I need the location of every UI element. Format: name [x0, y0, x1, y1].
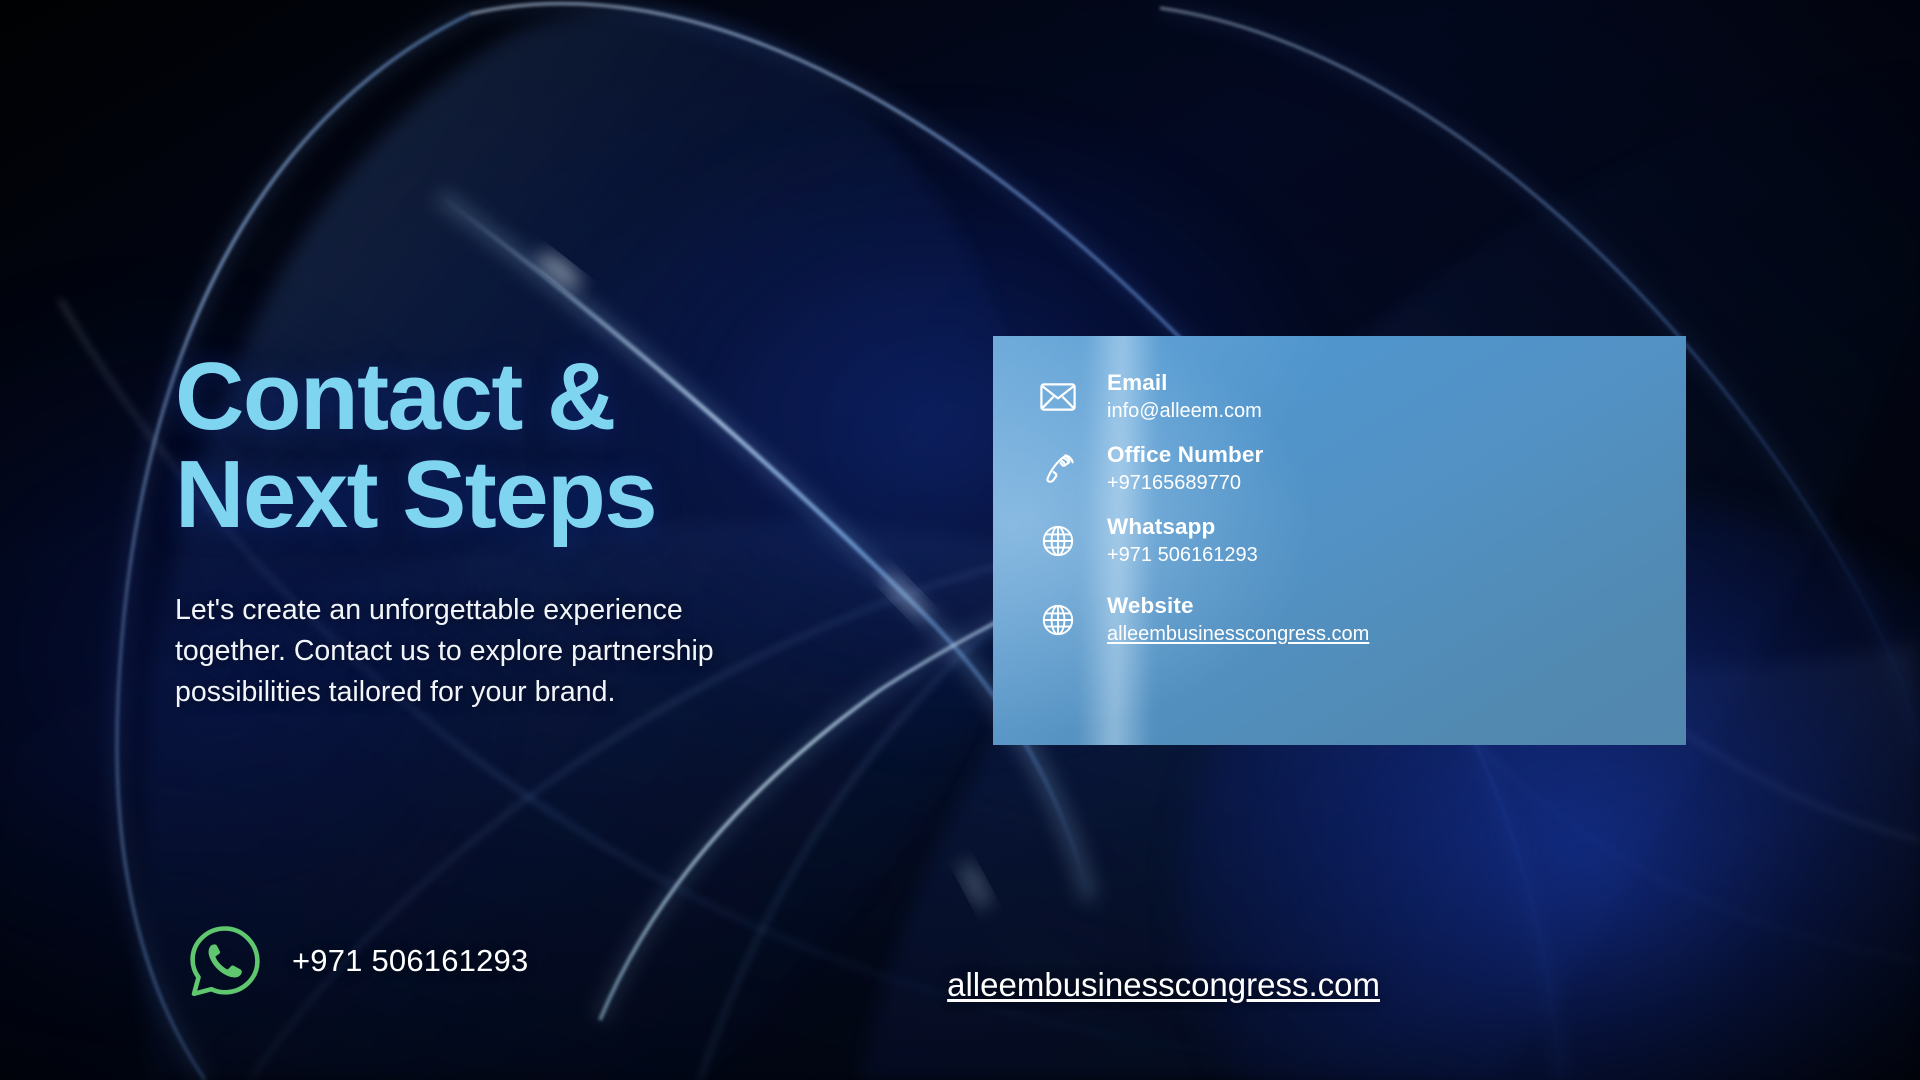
- contact-row-text: Whatsapp +971 506161293: [1107, 514, 1258, 567]
- contact-label: Office Number: [1107, 442, 1263, 467]
- contact-label: Website: [1107, 593, 1194, 618]
- contact-value[interactable]: info@alleem.com: [1107, 400, 1262, 424]
- slide-canvas: Contact & Next Steps Let's create an unf…: [0, 0, 1920, 1080]
- globe-icon: [1037, 599, 1079, 641]
- globe-icon: [1037, 520, 1079, 562]
- contact-label: Email: [1107, 370, 1168, 395]
- left-content-column: Contact & Next Steps Let's create an unf…: [175, 348, 855, 714]
- contact-value[interactable]: +971 506161293: [1107, 544, 1258, 568]
- contact-row-text: Office Number +97165689770: [1107, 442, 1263, 495]
- contact-row-whatsapp[interactable]: Whatsapp +971 506161293: [1037, 514, 1686, 567]
- page-subcopy: Let's create an unforgettable experience…: [175, 590, 800, 714]
- page-title-line-1: Contact &: [175, 348, 855, 446]
- footer-whatsapp-contact[interactable]: +971 506161293: [186, 922, 528, 1000]
- contact-row-text: Website alleembusinesscongress.com: [1107, 593, 1369, 646]
- contact-label: Whatsapp: [1107, 514, 1215, 539]
- page-title-line-2: Next Steps: [175, 446, 855, 544]
- phone-icon: [1037, 448, 1079, 490]
- contact-row-website[interactable]: Website alleembusinesscongress.com: [1037, 593, 1686, 646]
- contact-row-email[interactable]: Email info@alleem.com: [1037, 370, 1686, 423]
- contact-row-text: Email info@alleem.com: [1107, 370, 1262, 423]
- contact-list: Email info@alleem.com Office Number: [993, 336, 1686, 647]
- envelope-icon: [1037, 376, 1079, 418]
- whatsapp-icon[interactable]: [186, 922, 264, 1000]
- contact-row-office-number[interactable]: Office Number +97165689770: [1037, 442, 1686, 495]
- footer-whatsapp-number[interactable]: +971 506161293: [292, 943, 528, 979]
- page-title: Contact & Next Steps: [175, 348, 855, 544]
- website-link[interactable]: alleembusinesscongress.com: [1107, 623, 1369, 647]
- footer-website-link[interactable]: alleembusinesscongress.com: [947, 966, 1380, 1004]
- contact-value[interactable]: +97165689770: [1107, 472, 1263, 496]
- contact-details-card: Email info@alleem.com Office Number: [993, 336, 1686, 745]
